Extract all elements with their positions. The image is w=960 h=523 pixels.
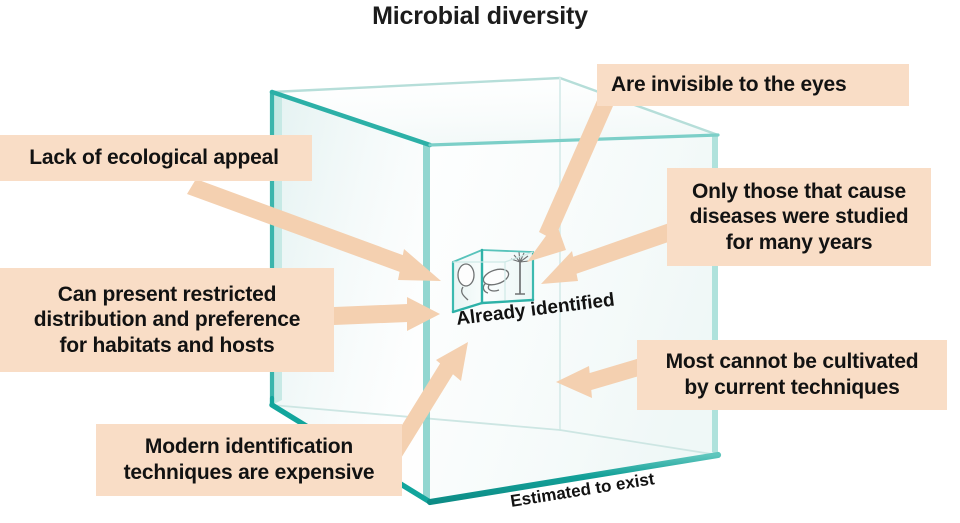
callout-restricted-line-2: for habitats and hosts	[0, 333, 334, 359]
callout-ecological-line-0: Lack of ecological appeal	[0, 145, 308, 171]
callout-restricted-line-1: distribution and preference	[0, 307, 334, 333]
callout-modern-line-1: techniques are expensive	[96, 460, 402, 486]
callout-diseases-line-0: Only those that cause	[667, 179, 931, 205]
callout-restricted-distribution[interactable]: Can present restricted distribution and …	[0, 268, 334, 372]
callout-diseases-line-1: diseases were studied	[667, 204, 931, 230]
callout-invisible-line-0: Are invisible to the eyes	[611, 72, 909, 98]
arrow-diseases-to-inner-cube	[541, 222, 677, 284]
arrow-restricted-to-inner-cube	[334, 297, 440, 331]
callout-cannot-be-cultivated[interactable]: Most cannot be cultivated by current tec…	[637, 340, 947, 410]
callout-ecological-appeal[interactable]: Lack of ecological appeal	[0, 135, 312, 181]
callout-cultivated-line-0: Most cannot be cultivated	[637, 349, 947, 375]
arrow-cultivated-to-inner-cube	[556, 358, 646, 398]
callout-restricted-line-0: Can present restricted	[0, 282, 334, 308]
diagram-canvas: Microbial diversity	[0, 0, 960, 523]
callout-cultivated-line-1: by current techniques	[637, 375, 947, 401]
callout-modern-techniques[interactable]: Modern identification techniques are exp…	[96, 424, 402, 496]
callout-invisible[interactable]: Are invisible to the eyes	[597, 64, 909, 106]
callout-diseases-studied[interactable]: Only those that cause diseases were stud…	[667, 168, 931, 266]
arrow-ecological-to-inner-cube	[187, 179, 441, 281]
callout-diseases-line-2: for many years	[667, 230, 931, 256]
callout-modern-line-0: Modern identification	[96, 434, 402, 460]
arrow-invisible-to-inner-cube	[527, 98, 613, 262]
